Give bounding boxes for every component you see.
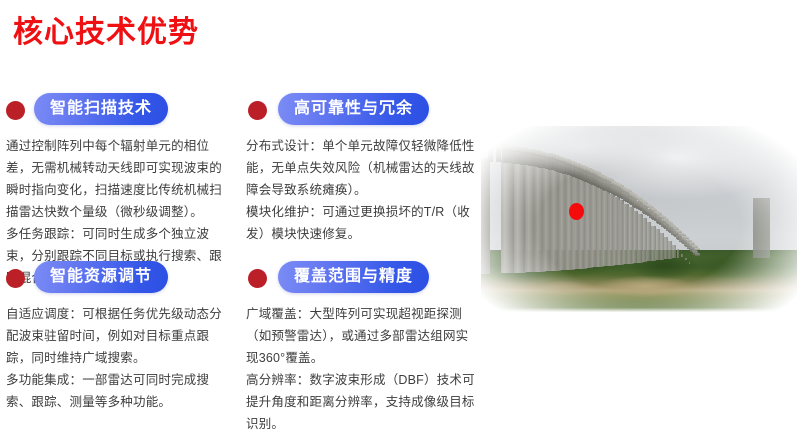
photo-bridge-parapet: [502, 145, 507, 151]
photo-bridge-beam: [695, 253, 700, 256]
feature-block-coverage-accuracy: 覆盖范围与精度 广域覆盖：大型阵列可实现超视距探测（如预警雷达），或通过多部雷达…: [242, 261, 482, 435]
viaduct-photo: [481, 126, 797, 326]
page-title: 核心技术优势: [13, 14, 199, 52]
photo-bridge-pier: [689, 262, 691, 264]
photo-bridge-pier: [664, 237, 668, 259]
photo-bridge-pier: [681, 254, 683, 258]
feature-pill-label: 智能资源调节: [50, 269, 152, 285]
feature-pill-label: 智能扫描技术: [50, 101, 152, 117]
photo-bridge-beam: [502, 150, 507, 163]
feature-header: 智能扫描技术: [0, 93, 240, 127]
photo-far-structure: [753, 198, 770, 258]
feature-body-text: 分布式设计：单个单元故障仅轻微降低性能，无单点失效风险（机械雷达的天线故障会导致…: [242, 135, 480, 245]
photo-viaduct-structure: [481, 128, 721, 244]
photo-bridge-parapet: [488, 144, 493, 150]
feature-pill-label: 高可靠性与冗余: [294, 101, 413, 117]
feature-pill-smart-scan[interactable]: 智能扫描技术: [34, 93, 168, 125]
bullet-dot-icon: [248, 101, 267, 120]
photo-bridge-beam: [488, 149, 493, 162]
photo-bridge-pier: [501, 159, 514, 274]
photo-bridge-pier: [481, 158, 490, 274]
slide-root: 核心技术优势 智能扫描技术 通过控制阵列中每个辐射单元的相位差，无需机械转动天线…: [0, 0, 800, 443]
feature-block-smart-scan: 智能扫描技术 通过控制阵列中每个辐射单元的相位差，无需机械转动天线即可实现波束的…: [0, 93, 240, 289]
feature-body-text: 自适应调度：可根据任务优先级动态分配波束驻留时间，例如对目标重点跟踪，同时维持广…: [0, 303, 232, 413]
photo-bridge-pier: [672, 245, 675, 258]
feature-pill-high-reliability[interactable]: 高可靠性与冗余: [278, 93, 429, 125]
photo-bridge-pier: [685, 258, 687, 260]
feature-body-text: 广域覆盖：大型阵列可实现超视距探测（如预警雷达），或通过多部雷达组网实现360°…: [242, 303, 480, 435]
feature-block-high-reliability: 高可靠性与冗余 分布式设计：单个单元故障仅轻微降低性能，无单点失效风险（机械雷达…: [242, 93, 482, 245]
feature-header: 高可靠性与冗余: [242, 93, 482, 127]
photo-bridge-pier: [677, 249, 680, 257]
feature-header: 覆盖范围与精度: [242, 261, 482, 295]
feature-pill-coverage-accuracy[interactable]: 覆盖范围与精度: [278, 261, 429, 293]
feature-pill-label: 覆盖范围与精度: [294, 269, 413, 285]
bullet-dot-icon: [6, 269, 25, 288]
photo-red-marker-dot: [569, 203, 584, 220]
feature-block-resource-scheduling: 智能资源调节 自适应调度：可根据任务优先级动态分配波束驻留时间，例如对目标重点跟…: [0, 261, 240, 413]
feature-header: 智能资源调节: [0, 261, 240, 295]
feature-pill-resource-scheduling[interactable]: 智能资源调节: [34, 261, 168, 293]
photo-bridge-pier: [668, 241, 671, 258]
photo-bridge-parapet: [496, 145, 501, 151]
photo-bridge-parapet: [695, 248, 700, 250]
photo-bridge-beam: [496, 150, 501, 163]
bullet-dot-icon: [6, 101, 25, 120]
bullet-dot-icon: [248, 269, 267, 288]
